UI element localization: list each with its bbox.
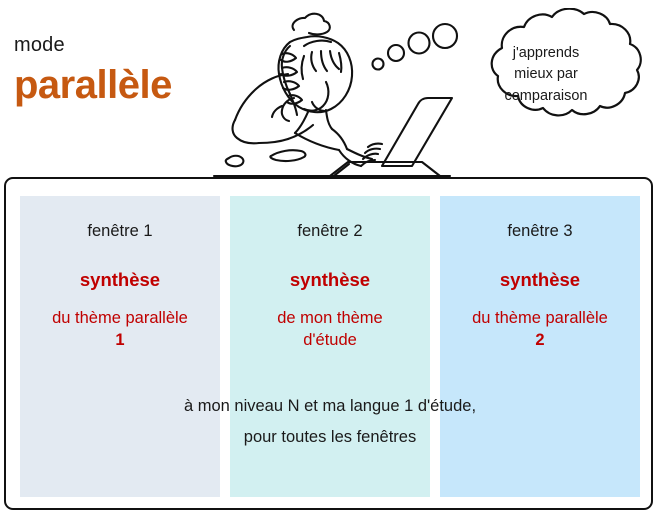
window-label-2: fenêtre 2 bbox=[230, 222, 430, 241]
window-panel-1[interactable]: fenêtre 1 synthèse du thème parallèle 1 bbox=[20, 196, 220, 497]
header-area: mode parallèle bbox=[0, 0, 657, 178]
subject-line-1-b: 1 bbox=[115, 331, 124, 349]
synthesis-label-3: synthèse bbox=[440, 269, 640, 291]
thought-bubble-icon: j'apprends mieux par comparaison bbox=[440, 8, 652, 138]
thought-line-2: mieux par bbox=[514, 64, 578, 85]
window-label-3: fenêtre 3 bbox=[440, 222, 640, 241]
subject-line-2-a: de mon thème bbox=[277, 309, 382, 327]
thought-line-1: j'apprends bbox=[513, 43, 579, 64]
subject-text-3: du thème parallèle 2 bbox=[440, 308, 640, 352]
windows-panel-row: fenêtre 1 synthèse du thème parallèle 1 … bbox=[20, 196, 640, 497]
subject-line-3-b: 2 bbox=[535, 331, 544, 349]
subject-text-1: du thème parallèle 1 bbox=[20, 308, 220, 352]
window-label-1: fenêtre 1 bbox=[20, 222, 220, 241]
synthesis-label-1: synthèse bbox=[20, 269, 220, 291]
parallel-mode-diagram-box: fenêtre 1 synthèse du thème parallèle 1 … bbox=[4, 177, 653, 510]
thought-bubble-text: j'apprends mieux par comparaison bbox=[440, 8, 652, 138]
synthesis-label-2: synthèse bbox=[230, 269, 430, 291]
subject-line-1-a: du thème parallèle bbox=[52, 309, 188, 327]
mode-label: mode bbox=[14, 34, 65, 57]
thought-line-3: comparaison bbox=[504, 86, 587, 107]
subject-line-3-a: du thème parallèle bbox=[472, 309, 608, 327]
thought-dots-icon bbox=[370, 18, 465, 78]
window-panel-2[interactable]: fenêtre 2 synthèse de mon thème d'étude bbox=[230, 196, 430, 497]
subject-line-2-b: d'étude bbox=[303, 331, 357, 349]
subject-text-2: de mon thème d'étude bbox=[230, 308, 430, 352]
window-panel-3[interactable]: fenêtre 3 synthèse du thème parallèle 2 bbox=[440, 196, 640, 497]
page-title: parallèle bbox=[14, 64, 172, 106]
